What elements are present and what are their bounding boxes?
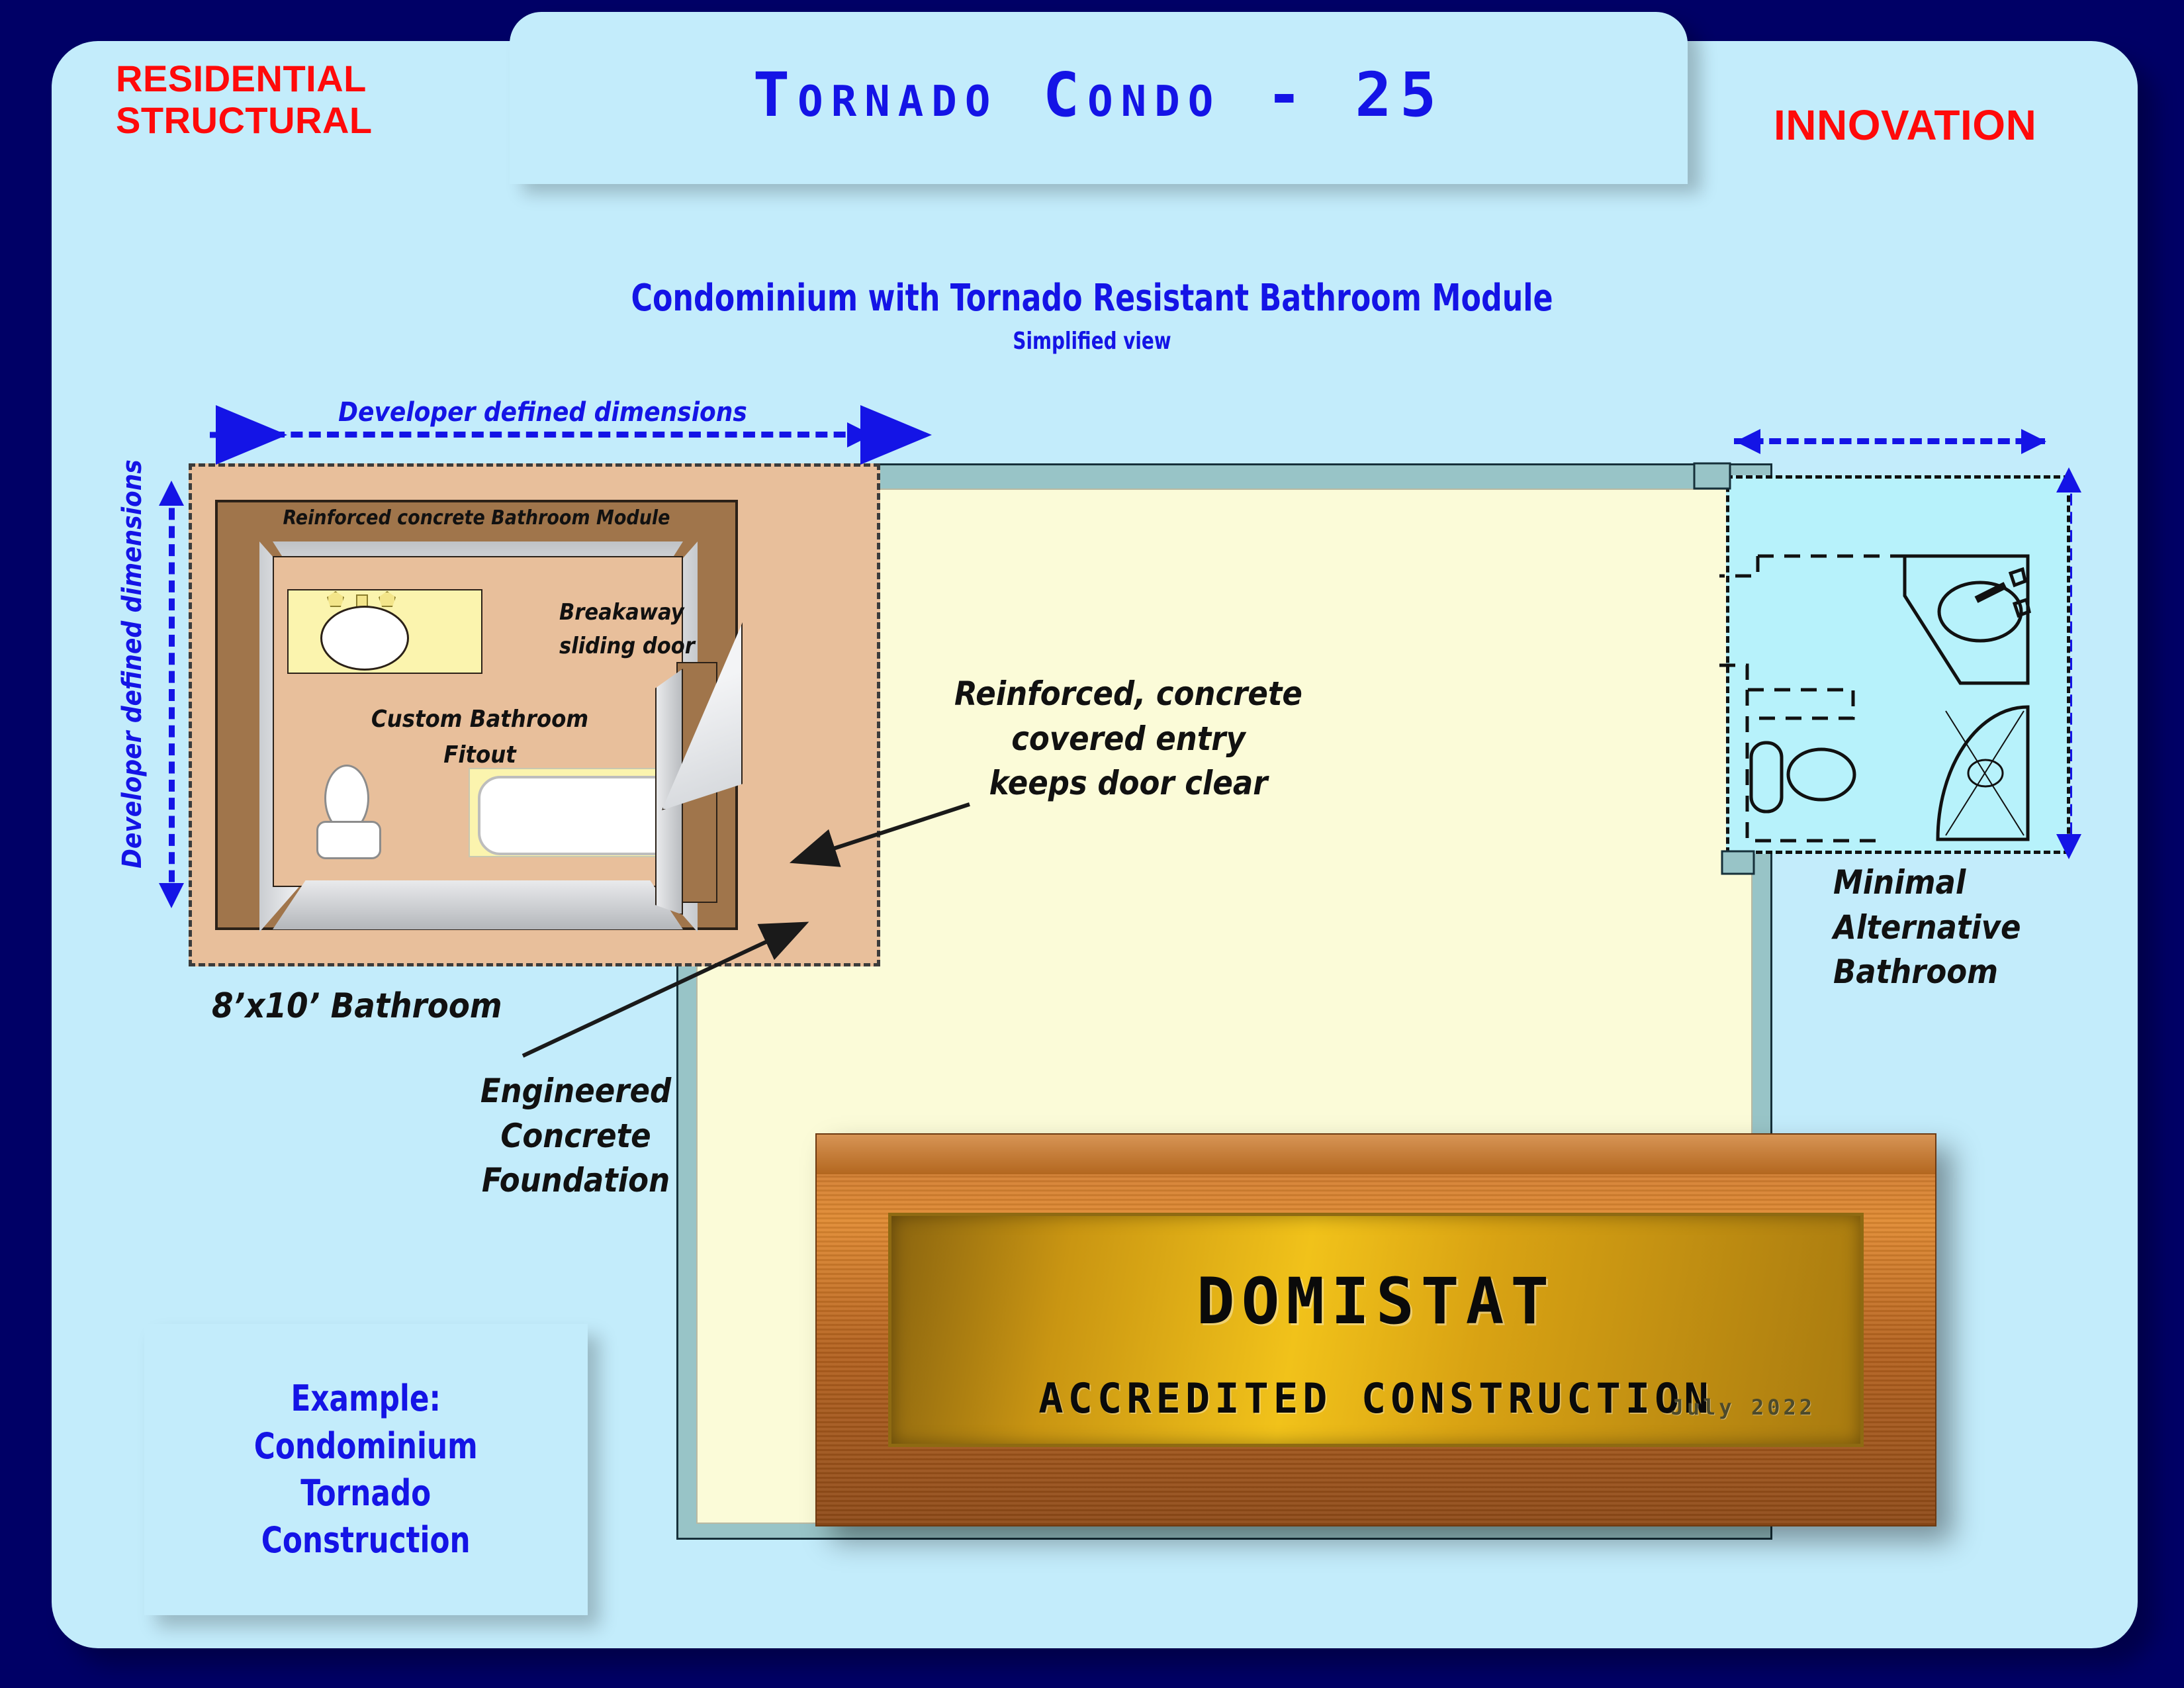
dimension-right-top-line: [1734, 438, 2045, 451]
foundation-line3: Foundation: [437, 1158, 715, 1203]
dimension-left-line: [169, 490, 181, 900]
alt-bathroom-line1: Minimal: [1833, 861, 2118, 906]
outer-frame: RESIDENTIAL STRUCTURAL Tornado Condo - 2…: [0, 0, 2184, 1688]
accreditation-plaque: DOMISTAT ACCREDITED CONSTRUCTION July 20…: [815, 1133, 1936, 1526]
example-callout-box: Example: Condominium Tornado Constructio…: [144, 1324, 588, 1615]
header-right-label: INNOVATION: [1774, 101, 2036, 150]
header-left-label: RESIDENTIAL STRUCTURAL: [116, 58, 460, 141]
plaque-gold-plate: DOMISTAT ACCREDITED CONSTRUCTION July 20…: [888, 1213, 1864, 1447]
example-line2: Condominium: [254, 1423, 478, 1470]
diagram-subtitle: Condominium with Tornado Resistant Bathr…: [131, 277, 2053, 320]
foundation-line2: Concrete: [437, 1114, 715, 1159]
dimension-top-line: [218, 432, 864, 444]
custom-fitout-label: Custom Bathroom Fitout: [371, 702, 589, 773]
example-callout-text: Example: Condominium Tornado Constructio…: [254, 1375, 478, 1564]
breakaway-door-label-line2: sliding door: [559, 630, 725, 663]
plaque-date: July 2022: [1671, 1395, 1815, 1420]
covered-entry-line3: keeps door clear: [923, 761, 1334, 806]
header-left-line2: STRUCTURAL: [116, 100, 460, 142]
bathtub-icon: [478, 776, 676, 855]
alt-bathroom-line2: Alternative: [1833, 906, 2118, 951]
covered-entry-note: Reinforced, concrete covered entry keeps…: [923, 672, 1334, 806]
toilet-tank-icon: [316, 821, 381, 859]
covered-entry-line1: Reinforced, concrete: [923, 672, 1334, 717]
dimension-left-label: Developer defined dimensions: [117, 459, 148, 869]
sink-basin-icon: [320, 606, 409, 671]
plaque-subtitle: ACCREDITED CONSTRUCTION: [1038, 1374, 1713, 1423]
example-line3: Tornado: [254, 1470, 478, 1517]
header-left-line1: RESIDENTIAL: [116, 58, 460, 100]
alt-bathroom-line3: Bathroom: [1833, 950, 2118, 995]
foundation-note: Engineered Concrete Foundation: [437, 1069, 715, 1203]
alt-bathroom-label: Minimal Alternative Bathroom: [1833, 861, 2118, 995]
example-line4: Construction: [254, 1517, 478, 1564]
plaque-bevel-top: [817, 1135, 1935, 1174]
covered-entry-line2: covered entry: [923, 717, 1334, 762]
diagram-subtitle-secondary: Simplified view: [153, 328, 2031, 355]
breakaway-door-label-line1: Breakaway: [559, 596, 725, 630]
plaque-title: DOMISTAT: [1197, 1264, 1555, 1338]
dimension-top-label: Developer defined dimensions: [165, 397, 920, 428]
bathroom-size-label: 8’x10’ Bathroom: [212, 986, 556, 1026]
custom-fitout-line2: Fitout: [371, 737, 589, 773]
example-line1: Example:: [254, 1375, 478, 1422]
page-title: Tornado Condo - 25: [510, 60, 1688, 130]
custom-fitout-line1: Custom Bathroom: [371, 702, 589, 737]
minimal-alternative-bathroom-plan: [1726, 475, 2070, 854]
foundation-line1: Engineered: [437, 1069, 715, 1114]
module-wall-bottom-3d: [273, 880, 683, 929]
module-label: Reinforced concrete Bathroom Module: [215, 506, 738, 530]
breakaway-door-label: Breakaway sliding door: [559, 596, 725, 663]
